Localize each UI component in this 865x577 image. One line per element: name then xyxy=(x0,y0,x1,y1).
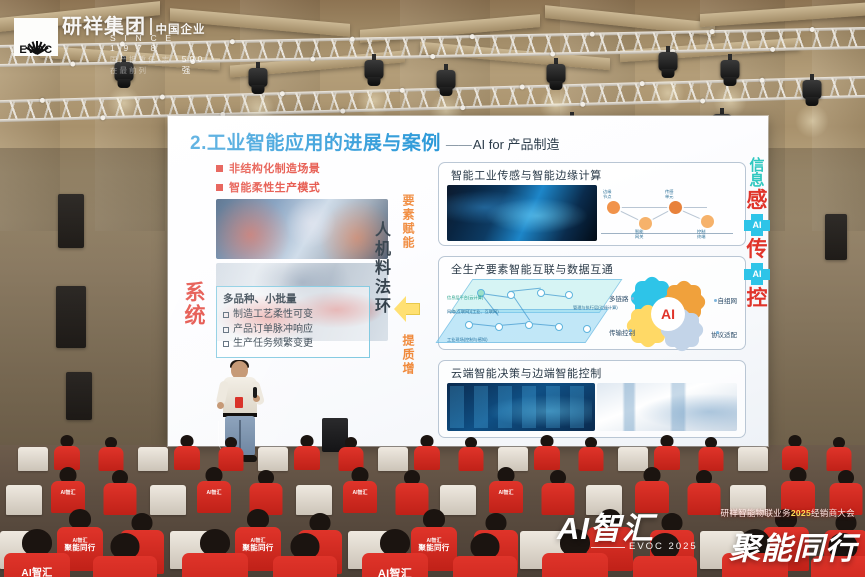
audience-member xyxy=(448,533,522,577)
box-item-list: 制造工艺柔性可变 产品订单脉冲响应 生产任务频繁变更 xyxy=(223,308,364,352)
gear-label-protocol-adaptation: 协议适配 xyxy=(711,329,737,339)
slide-title: 2.工业智能应用的进展与案例——AI for 产品制造 xyxy=(190,128,560,155)
panel-header: 智能工业传感与智能边缘计算 xyxy=(439,163,745,185)
shirt-line-1: AI智汇 xyxy=(498,491,513,496)
panel-header: 全生产要素智能互联与数据互通 xyxy=(439,257,745,279)
list-item: 智能柔性生产模式 xyxy=(216,179,388,195)
audience-member: AI智汇 xyxy=(358,529,432,577)
vertical-label-element-empower: 要素赋能 xyxy=(400,194,417,250)
layered-network-diagram: 信息层平台(云计算) 网络(互联网)(工业、互联网) 管理与执行层(边缘计算) … xyxy=(447,279,615,345)
corp-logo-text: 研祥集团中国企业 S I N C E 1 9 7 8 国产担重任 志在最前列 5… xyxy=(62,10,206,39)
audience-member xyxy=(52,435,82,469)
audience-member: AI智汇 xyxy=(486,467,526,513)
list-item: 非结构化制造场景 xyxy=(216,160,388,176)
layer-label: 网络(互联网)(工业、互联网) xyxy=(447,309,499,314)
chair xyxy=(738,447,768,471)
right-label-sense: 感 xyxy=(744,190,770,211)
audience-member xyxy=(824,437,854,471)
event-year-tag: EVOC 2025 xyxy=(629,541,698,552)
panel-full-element-interconnect: 全生产要素智能互联与数据互通 xyxy=(438,256,746,350)
vertical-label-5m1e: 人机料法环 xyxy=(368,221,392,316)
box-heading: 多品种、小批量 xyxy=(223,291,364,306)
evoc-logo-mark: EVOC xyxy=(14,18,58,56)
presenter-badge xyxy=(235,397,243,408)
audience-member xyxy=(412,435,442,469)
plus-ai-badge-label: AI xyxy=(744,263,770,285)
chair xyxy=(296,485,332,515)
chair xyxy=(18,447,48,471)
right-label-control: 控 xyxy=(744,288,770,309)
shirt-line-1: AI智汇 xyxy=(60,491,75,496)
vertical-label-system: 系统 xyxy=(178,281,208,327)
corp-top500: 500强 xyxy=(182,54,206,76)
edge-controller-image xyxy=(597,383,737,431)
slide-right-column: 信息 感 AI 传 AI 控 xyxy=(744,158,770,311)
right-label-information: 信息 xyxy=(744,158,770,188)
audience-member xyxy=(172,435,202,469)
audience-member xyxy=(96,437,126,471)
audience-member xyxy=(532,435,562,469)
box-item-label: 产品订单脉冲响应 xyxy=(233,323,313,338)
shirt-line-1: AI智汇 xyxy=(378,569,412,577)
slide-title-dash: —— xyxy=(446,137,472,152)
stage-backdrop xyxy=(0,148,168,448)
gear-label-multilink: 多链路 xyxy=(609,293,629,303)
audience-member xyxy=(652,435,682,469)
audience-member xyxy=(100,470,140,516)
list-item: 制造工艺柔性可变 xyxy=(223,308,364,323)
audience-member: AI智汇 xyxy=(340,467,380,513)
presenter-left-hand xyxy=(217,402,224,409)
audience-member: AI智汇 xyxy=(0,529,74,577)
plus-ai-badge-label: AI xyxy=(744,214,770,236)
audience-member xyxy=(268,533,342,577)
audience-member xyxy=(696,437,726,471)
audience-member xyxy=(576,437,606,471)
event-subtitle-red: 研祥智能物联业务2025经销商大会 xyxy=(720,507,855,519)
screenshot-root: 2.工业智能应用的进展与案例——AI for 产品制造 非结构化制造场景 智能柔… xyxy=(0,0,865,577)
corp-since: S I N C E 1 9 7 8 xyxy=(110,33,176,53)
ai-gear-diagram: AI 多链路 自组网 传输控制 协议适配 xyxy=(609,279,737,345)
chair xyxy=(6,485,42,515)
chair xyxy=(138,447,168,471)
audience-member xyxy=(780,435,810,469)
audience-member xyxy=(336,437,366,471)
event-branding: 研祥智能物联业务2025经销商大会 AI智汇 聚能同行 EVOC 2025 xyxy=(557,501,857,563)
panel-header: 云端智能决策与边端智能控制 xyxy=(439,361,745,383)
audience-member xyxy=(178,529,252,577)
event-subtitle-part-b: 经销商大会 xyxy=(811,508,855,518)
microphone-icon xyxy=(253,387,257,398)
right-label-transmit: 传 xyxy=(744,239,770,260)
audience-member xyxy=(456,437,486,471)
audience-member xyxy=(292,435,322,469)
corporate-logo: EVOC 研祥集团中国企业 S I N C E 1 9 7 8 国产担重任 志在… xyxy=(14,10,219,56)
chair xyxy=(378,447,408,471)
event-title-line2: 聚能同行 xyxy=(729,523,857,568)
square-bullet-icon xyxy=(216,184,223,191)
panel-smart-sensing: 智能工业传感与智能边缘计算 边缘节点 智能网关 传感单元 控制终端 xyxy=(438,162,746,246)
audience-member: AI智汇 xyxy=(48,467,88,513)
stage-backdrop xyxy=(768,148,865,448)
left-arrow-icon xyxy=(394,296,420,322)
slide-title-subtitle: AI for 产品制造 xyxy=(473,137,560,152)
evoc-wordmark: EVOC xyxy=(14,44,58,56)
gear-center-ai-label: AI xyxy=(651,297,685,331)
slide-title-main: 2.工业智能应用的进展与案例 xyxy=(190,133,441,154)
event-subtitle-year: 2025 xyxy=(791,508,811,518)
plus-ai-badge-icon: AI xyxy=(744,263,770,285)
cloud-dashboard-image xyxy=(447,383,595,431)
corp-second-row: S I N C E 1 9 7 8 国产担重任 志在最前列 500强 xyxy=(110,32,206,76)
chair xyxy=(258,447,288,471)
bullet-label: 智能柔性生产模式 xyxy=(229,179,320,195)
vertical-label-quality-increase: 提质增 xyxy=(400,334,417,376)
shirt-line-1: AI智汇 xyxy=(206,491,221,496)
audience-member xyxy=(88,533,162,577)
edge-computing-image xyxy=(447,185,597,241)
multi-variety-box: 多品种、小批量 制造工艺柔性可变 产品订单脉冲响应 生产任务频繁变更 xyxy=(216,286,370,358)
hollow-square-bullet-icon xyxy=(223,312,229,318)
list-item: 生产任务频繁变更 xyxy=(223,337,364,352)
box-item-label: 生产任务频繁变更 xyxy=(233,337,313,352)
layer-label: 工业现场(控制与感知) xyxy=(447,337,487,342)
shirt-line-1: AI智汇 xyxy=(21,569,52,577)
hollow-square-bullet-icon xyxy=(223,327,229,333)
event-subtitle-part-a: 研祥智能物联业务 xyxy=(720,508,790,518)
sensor-network-chart: 边缘节点 智能网关 传感单元 控制终端 xyxy=(597,187,737,239)
corp-tagline: 国产担重任 志在最前列 xyxy=(110,54,176,76)
hollow-square-bullet-icon xyxy=(223,341,229,347)
audience-member xyxy=(216,437,246,471)
square-bullet-icon xyxy=(216,165,223,172)
red-bullet-list: 非结构化制造场景 智能柔性生产模式 xyxy=(216,160,388,195)
chair xyxy=(150,485,186,515)
list-item: 产品订单脉冲响应 xyxy=(223,323,364,338)
factory-photo-robotics xyxy=(216,199,388,259)
layer-label: 信息层平台(云计算) xyxy=(447,295,483,300)
bullet-label: 非结构化制造场景 xyxy=(229,160,320,176)
shirt-line-1: AI智汇 xyxy=(352,491,367,496)
plus-ai-badge-icon: AI xyxy=(744,214,770,236)
box-item-label: 制造工艺柔性可变 xyxy=(233,308,313,323)
audience-member: AI智汇 xyxy=(194,467,234,513)
gear-label-selforganizing: 自组网 xyxy=(718,295,738,305)
